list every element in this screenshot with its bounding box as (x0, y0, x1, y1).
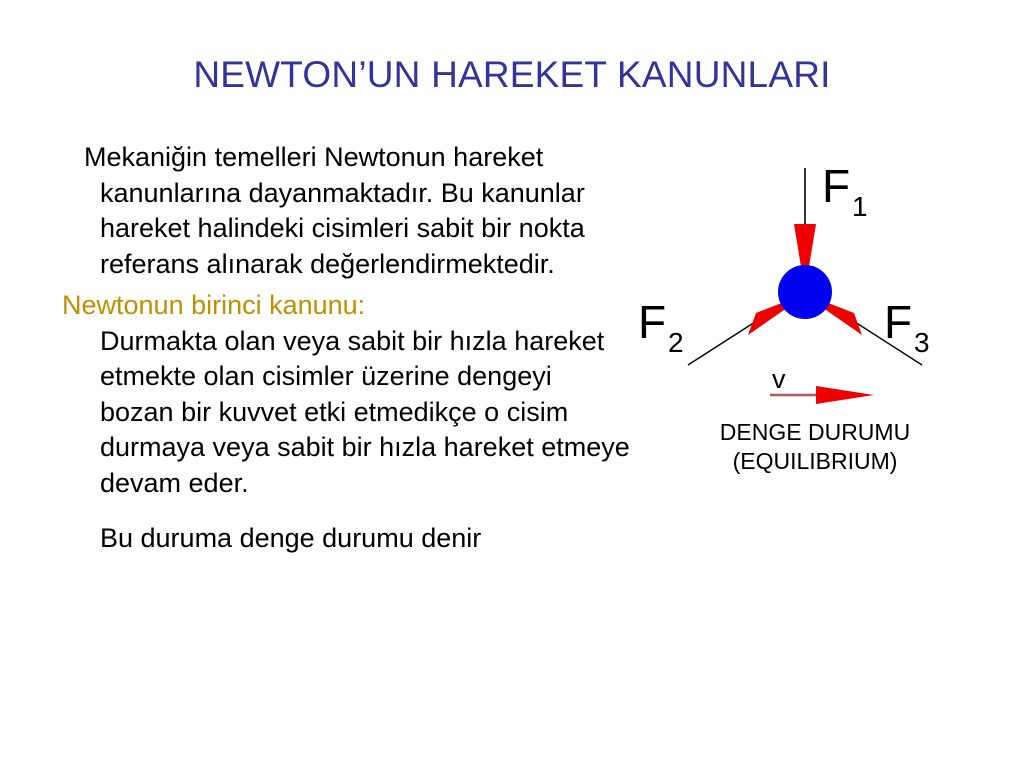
label-f3-subscript: 3 (914, 327, 930, 358)
paragraph-first-law-heading: Newtonun birinci kanunu: (62, 288, 632, 324)
slide: NEWTON’UN HAREKET KANUNLARI Mekaniğin te… (0, 0, 1024, 768)
body-text-column: Mekaniğin temelleri Newtonun hareket kan… (62, 140, 632, 557)
body-circle (778, 265, 832, 319)
label-f2: F 2 (638, 296, 684, 358)
label-f1: F 1 (822, 160, 868, 222)
paragraph-equilibrium-note: Bu duruma denge durumu denir (62, 521, 632, 557)
paragraph-intro: Mekaniğin temelleri Newtonun hareket kan… (62, 140, 632, 282)
caption-line-1: DENGE DURUMU (630, 418, 1000, 447)
label-f3: F 3 (884, 296, 930, 358)
velocity-arrowhead-icon (816, 386, 874, 404)
label-f2-subscript: 2 (668, 327, 684, 358)
label-f1-subscript: 1 (852, 191, 868, 222)
caption-line-2: (EQUILIBRIUM) (630, 447, 1000, 476)
label-f1-letter: F (822, 160, 850, 212)
label-f3-letter: F (884, 296, 912, 348)
page-title: NEWTON’UN HAREKET KANUNLARI (0, 52, 1024, 98)
f2-shaft-line (688, 322, 755, 365)
label-velocity: v (772, 364, 786, 394)
diagram-caption: DENGE DURUMU (EQUILIBRIUM) (630, 418, 1000, 476)
paragraph-first-law-body: Durmakta olan veya sabit bir hızla harek… (62, 324, 632, 502)
label-f2-letter: F (638, 296, 666, 348)
